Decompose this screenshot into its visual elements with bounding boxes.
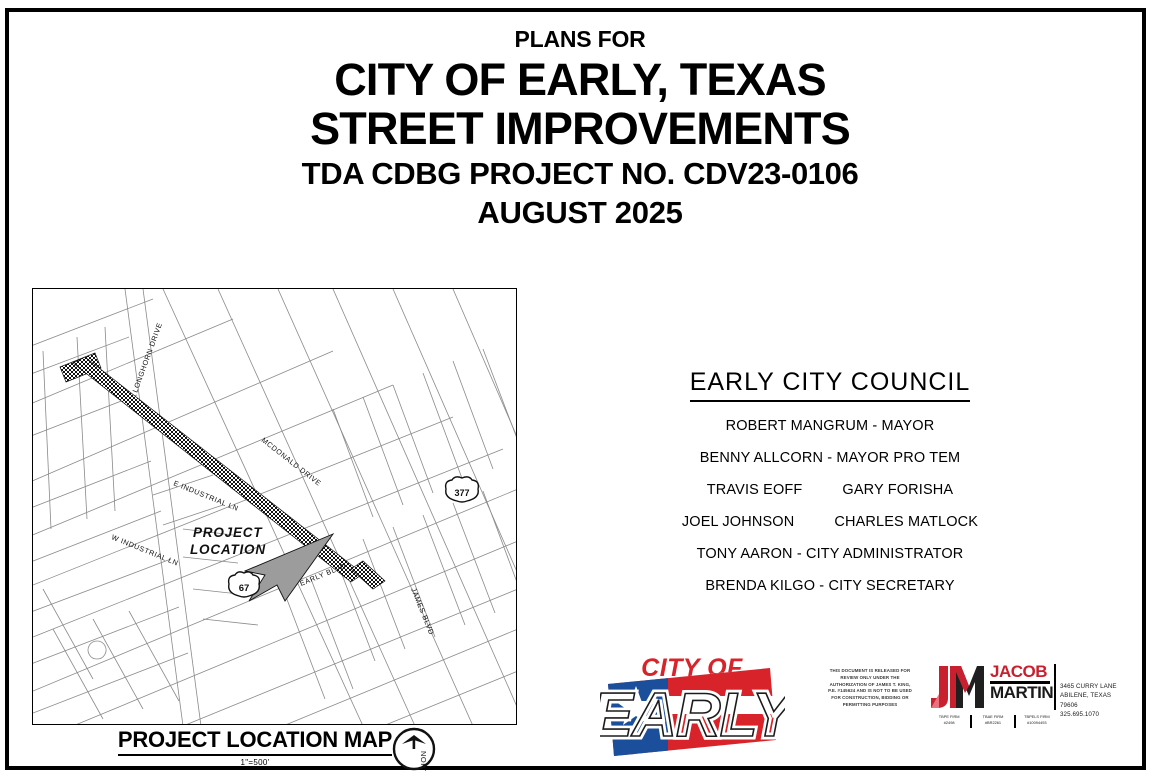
svg-text:67: 67 <box>239 583 250 594</box>
firm-registration: TBAE FIRM #BR2261 <box>972 714 1014 726</box>
council-member-name: CHARLES MATLOCK <box>834 514 978 530</box>
project-scope-title: STREET IMPROVEMENTS <box>180 105 980 152</box>
council-member-name: JOEL JOHNSON <box>682 514 794 530</box>
council-member-name: ROBERT MANGRUM - MAYOR <box>726 418 935 434</box>
project-location-callout-line2: LOCATION <box>190 542 266 557</box>
council-member-name: TRAVIS EOFF <box>707 482 803 498</box>
firm-registration: TBPE FIRM #2498 <box>928 714 970 726</box>
jacob-martin-wordmark: JACOB MARTIN <box>990 664 1050 712</box>
council-member-name: BENNY ALLCORN - MAYOR PRO TEM <box>700 450 961 466</box>
council-member-name: TONY AARON - CITY ADMINISTRATOR <box>697 546 964 562</box>
engineer-address-line2: ABILENE, TEXAS 79606 <box>1060 691 1128 710</box>
project-location-map: 67 377 LONGHORN DRIVE MCDONALD DRIVE E I… <box>32 288 517 725</box>
plans-for-label: PLANS FOR <box>180 28 980 51</box>
project-number: TDA CDBG PROJECT NO. CDV23-0106 <box>180 155 980 194</box>
council-member-row: BRENDA KILGO - CITY SECRETARY <box>620 578 1040 594</box>
project-location-callout-line1: PROJECT <box>193 525 263 540</box>
north-arrow-icon: NORTH <box>392 727 436 771</box>
council-member-row: JOEL JOHNSON CHARLES MATLOCK <box>620 514 1040 530</box>
svg-text:377: 377 <box>454 488 469 498</box>
highway-shield-377: 377 <box>446 477 479 502</box>
council-member-list: ROBERT MANGRUM - MAYOR BENNY ALLCORN - M… <box>620 418 1040 594</box>
firm-registration: TBPELS FIRM #10094493 <box>1016 714 1058 726</box>
document-release-note: THIS DOCUMENT IS RELEASED FOR REVIEW ONL… <box>826 668 914 709</box>
project-city-title: CITY OF EARLY, TEXAS <box>180 56 980 105</box>
map-title: PROJECT LOCATION MAP <box>118 727 392 756</box>
council-member-row: BENNY ALLCORN - MAYOR PRO TEM <box>620 450 1040 466</box>
city-logo-outline: EARLY <box>600 681 785 750</box>
engineer-name-top: JACOB <box>990 664 1050 680</box>
map-scale-label: 1"=500' <box>110 758 400 767</box>
map-caption: PROJECT LOCATION MAP 1"=500' <box>110 727 400 767</box>
engineer-address-line1: 3465 CURRY LANE <box>1060 682 1128 691</box>
cover-sheet: PLANS FOR CITY OF EARLY, TEXAS STREET IM… <box>0 0 1153 781</box>
engineer-phone: 325.695.1070 <box>1060 710 1128 719</box>
engineer-address: 3465 CURRY LANE ABILENE, TEXAS 79606 325… <box>1060 682 1128 719</box>
engineer-name-bottom: MARTIN <box>990 685 1050 701</box>
council-member-row: TRAVIS EOFF GARY FORISHA <box>620 482 1040 498</box>
svg-text:NORTH: NORTH <box>419 751 428 771</box>
city-council-block: EARLY CITY COUNCIL ROBERT MANGRUM - MAYO… <box>620 368 1040 594</box>
council-heading: EARLY CITY COUNCIL <box>690 368 971 402</box>
project-date: AUGUST 2025 <box>180 194 980 231</box>
firm-number: #10094493 <box>1018 720 1056 726</box>
map-frame: 67 377 LONGHORN DRIVE MCDONALD DRIVE E I… <box>32 288 517 725</box>
firm-number: #2498 <box>930 720 968 726</box>
council-member-row: TONY AARON - CITY ADMINISTRATOR <box>620 546 1040 562</box>
jacob-martin-monogram-icon <box>928 662 986 714</box>
council-member-name: BRENDA KILGO - CITY SECRETARY <box>705 578 954 594</box>
logo-divider <box>1054 664 1056 710</box>
engineer-logo-block: JACOB MARTIN 3465 CURRY LANE ABILENE, TE… <box>928 662 1128 742</box>
highway-shield-67: 67 <box>229 572 260 597</box>
city-of-early-logo: CITY OF EARLY EARLY <box>600 640 785 762</box>
firm-registration-row: TBPE FIRM #2498 TBAE FIRM #BR2261 TBPELS… <box>928 714 1058 728</box>
council-member-row: ROBERT MANGRUM - MAYOR <box>620 418 1040 434</box>
title-block: PLANS FOR CITY OF EARLY, TEXAS STREET IM… <box>180 28 980 231</box>
firm-number: #BR2261 <box>974 720 1012 726</box>
map-drawing: 67 377 LONGHORN DRIVE MCDONALD DRIVE E I… <box>33 289 517 725</box>
council-member-name: GARY FORISHA <box>842 482 953 498</box>
